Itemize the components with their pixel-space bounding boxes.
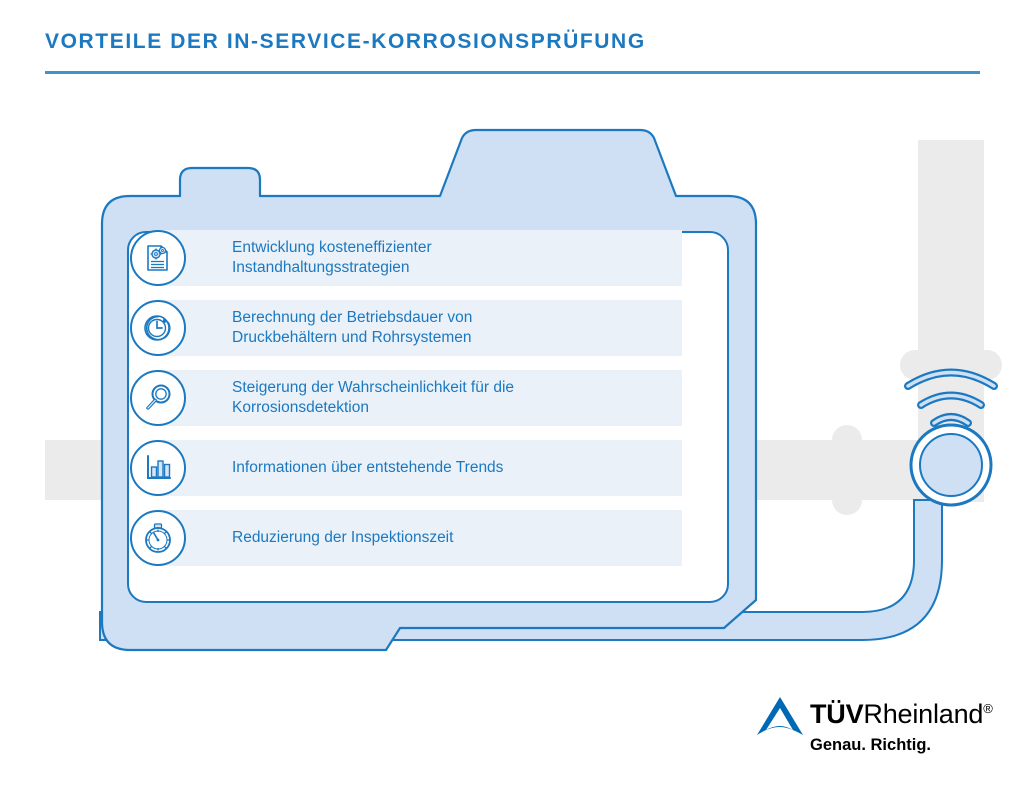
logo-rheinland: Rheinland <box>863 699 983 729</box>
list-item[interactable]: Berechnung der Betriebsdauer von Druckbe… <box>130 300 682 356</box>
tuv-rheinland-triangle-icon <box>755 695 805 739</box>
magnifier-icon <box>130 370 186 426</box>
sensor-inner-disc <box>920 434 982 496</box>
list-item[interactable]: Steigerung der Wahrscheinlichkeit für di… <box>130 370 682 426</box>
logo-claim: Genau. Richtig. <box>810 736 931 755</box>
list-item[interactable]: Informationen über entstehende Trends <box>130 440 682 496</box>
stopwatch-icon <box>130 510 186 566</box>
list-item-label: Steigerung der Wahrscheinlichkeit für di… <box>232 378 514 418</box>
list-item[interactable]: Reduzierung der Inspektionszeit <box>130 510 682 566</box>
bar-chart-icon <box>130 440 186 496</box>
list-item-label: Berechnung der Betriebsdauer von Druckbe… <box>232 308 472 348</box>
pipe-flange-left <box>832 425 862 515</box>
benefits-list: Entwicklung kosteneffizienter Instandhal… <box>130 230 682 600</box>
infographic-page: VORTEILE DER IN-SERVICE-KORROSIONSPRÜFUN… <box>0 0 1024 800</box>
logo-tuv: TÜV <box>810 699 863 729</box>
logo-registered-mark: ® <box>983 701 992 716</box>
document-gears-icon <box>130 230 186 286</box>
tuv-rheinland-logo: TÜVRheinland® Genau. Richtig. <box>755 695 990 765</box>
list-item-label: Reduzierung der Inspektionszeit <box>232 528 453 548</box>
list-item-label: Informationen über entstehende Trends <box>232 458 503 478</box>
list-item-label: Entwicklung kosteneffizienter Instandhal… <box>232 238 432 278</box>
logo-wordmark: TÜVRheinland® <box>810 699 993 730</box>
pipe-vertical <box>918 140 984 350</box>
list-item[interactable]: Entwicklung kosteneffizienter Instandhal… <box>130 230 682 286</box>
clock-refresh-icon <box>130 300 186 356</box>
